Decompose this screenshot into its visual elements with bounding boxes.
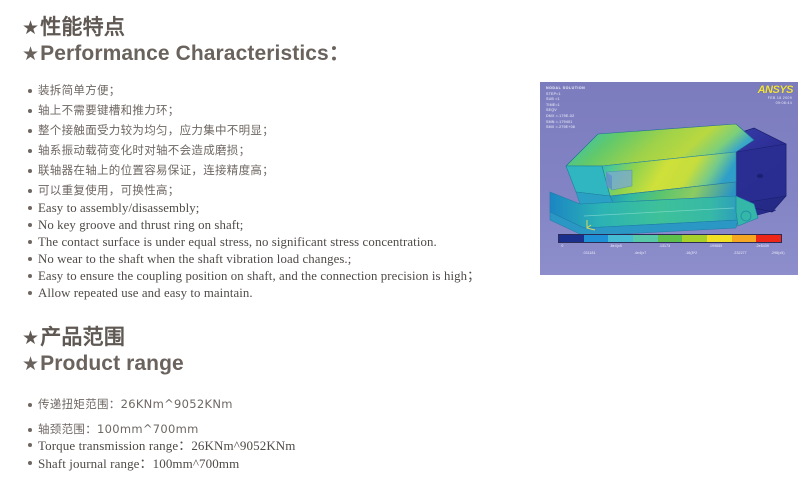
legend-tick-label: .232277 (733, 251, 746, 256)
ansys-logo: ANSYS (758, 84, 793, 96)
bullet-icon (28, 189, 32, 193)
list-item-label: Allow repeated use and easy to maintain. (38, 285, 253, 302)
performance-heading-cn: ★性能特点 (22, 14, 350, 40)
bullet-icon (28, 257, 32, 261)
list-item-label: Easy to ensure the coupling position on … (38, 268, 480, 285)
product-range-heading-group: ★产品范围 ★Product range (22, 324, 184, 377)
bullet-icon (28, 461, 32, 465)
list-item-label: 轴系振动载荷变化时对轴不会造成磨损； (38, 142, 250, 160)
list-item: No wear to the shaft when the shaft vibr… (28, 251, 480, 268)
list-item: No key groove and thrust ring on shaft; (28, 217, 480, 234)
stress-contour-legend: 0 .8e4(x5 .13173 .199885 .2e5439 .031181… (558, 234, 780, 257)
list-item-label: Shaft journal range：100mm^700mm (38, 455, 239, 473)
list-item: 传递扭矩范围：26KNm^9052KNm (28, 396, 233, 413)
legend-swatch (559, 235, 584, 242)
legend-tick-label: .13173 (659, 244, 670, 249)
legend-tick-label: 0 (561, 244, 563, 249)
star-icon: ★ (22, 353, 39, 375)
bullet-icon (28, 403, 32, 407)
performance-heading-cn-text: 性能特点 (40, 15, 125, 39)
bullet-icon (28, 274, 32, 278)
legend-color-bar (558, 234, 782, 243)
list-item: Easy to ensure the coupling position on … (28, 268, 480, 285)
bullet-icon (28, 428, 32, 432)
list-item-label: No wear to the shaft when the shaft vibr… (38, 251, 351, 268)
legend-labels-bottom: .031181 .4e4(x7 .16(8*2 .232277 .298(x5) (558, 251, 780, 257)
axis-triad-icon (584, 218, 598, 232)
legend-swatch (732, 235, 757, 242)
product-range-heading-en: ★Product range (22, 350, 184, 377)
legend-swatch (707, 235, 732, 242)
list-item-label: No key groove and thrust ring on shaft; (38, 217, 243, 234)
list-item: Shaft journal range：100mm^700mm (28, 455, 296, 473)
legend-swatch (633, 235, 658, 242)
legend-tick-label: .298(x5) (771, 251, 785, 256)
performance-heading-en-text: Performance Characteristics： (40, 42, 350, 65)
list-item-label: Torque transmission range：26KNm^9052KNm (38, 437, 296, 455)
poster-page: ★性能特点 ★Performance Characteristics： 装拆简单… (0, 0, 811, 477)
list-item-label: 轴上不需要键槽和推力环； (38, 102, 180, 120)
bullet-icon (28, 129, 32, 133)
list-item-label: 轴颈范围：100mm^700mm (38, 421, 199, 438)
legend-swatch (756, 235, 781, 242)
legend-tick-label: .16(8*2 (685, 251, 697, 256)
product-range-heading-en-text: Product range (40, 352, 184, 375)
list-item: 轴颈范围：100mm^700mm (28, 421, 233, 438)
legend-swatch (608, 235, 633, 242)
list-item-label: 整个接触面受力较为均匀，应力集中不明显； (38, 122, 274, 140)
list-item-label: 装拆简单方便； (38, 82, 121, 100)
bullet-icon (28, 206, 32, 210)
list-item-label: The contact surface is under equal stres… (38, 234, 437, 251)
legend-swatch (658, 235, 683, 242)
legend-tick-label: .031181 (583, 251, 596, 256)
bullet-icon (28, 109, 32, 113)
performance-bullets-cn: 装拆简单方便； 轴上不需要键槽和推力环； 整个接触面受力较为均匀，应力集中不明显… (28, 82, 274, 202)
product-range-bullets-en: Torque transmission range：26KNm^9052KNm … (28, 437, 296, 473)
bullet-icon (28, 89, 32, 93)
bullet-icon (28, 443, 32, 447)
list-item: Torque transmission range：26KNm^9052KNm (28, 437, 296, 455)
legend-swatch (682, 235, 707, 242)
bullet-icon (28, 291, 32, 295)
performance-bullets-en: Easy to assembly/disassembly; No key gro… (28, 200, 480, 302)
list-item: 装拆简单方便； (28, 82, 274, 100)
bullet-icon (28, 169, 32, 173)
list-item: 可以重复使用，可换性高； (28, 182, 274, 200)
list-item: 轴系振动载荷变化时对轴不会造成磨损； (28, 142, 274, 160)
ansys-header-line: NODAL SOLUTION (546, 86, 585, 92)
legend-tick-label: .8e4(x5 (610, 244, 622, 249)
performance-heading-group: ★性能特点 ★Performance Characteristics： (22, 14, 350, 67)
list-item-label: 传递扭矩范围：26KNm^9052KNm (38, 396, 233, 413)
legend-tick-label: .4e4(x7 (634, 251, 646, 256)
coupling-model-3d (540, 100, 798, 240)
list-item: Allow repeated use and easy to maintain. (28, 285, 480, 302)
legend-tick-label: .2e5439 (756, 244, 769, 249)
bullet-icon (28, 149, 32, 153)
list-item-label: 联轴器在轴上的位置容易保证，连接精度高； (38, 162, 274, 180)
star-icon: ★ (22, 327, 39, 349)
star-icon: ★ (22, 43, 39, 65)
legend-tick-label: .199885 (709, 244, 722, 249)
legend-swatch (584, 235, 609, 242)
ansys-fea-figure: NODAL SOLUTION STEP=1 SUB =1 TIME=1 SEQV… (540, 82, 798, 275)
list-item: The contact surface is under equal stres… (28, 234, 480, 251)
list-item: 整个接触面受力较为均匀，应力集中不明显； (28, 122, 274, 140)
list-item: 轴上不需要键槽和推力环； (28, 102, 274, 120)
bullet-icon (28, 240, 32, 244)
list-item: 联轴器在轴上的位置容易保证，连接精度高； (28, 162, 274, 180)
performance-heading-en: ★Performance Characteristics： (22, 40, 350, 67)
legend-labels-top: 0 .8e4(x5 .13173 .199885 .2e5439 (558, 244, 780, 250)
product-range-heading-cn-text: 产品范围 (40, 325, 125, 349)
list-item-label: Easy to assembly/disassembly; (38, 200, 199, 217)
bullet-icon (28, 223, 32, 227)
list-item: Easy to assembly/disassembly; (28, 200, 480, 217)
star-icon: ★ (22, 17, 39, 39)
product-range-heading-cn: ★产品范围 (22, 324, 184, 350)
list-item-label: 可以重复使用，可换性高； (38, 182, 180, 200)
